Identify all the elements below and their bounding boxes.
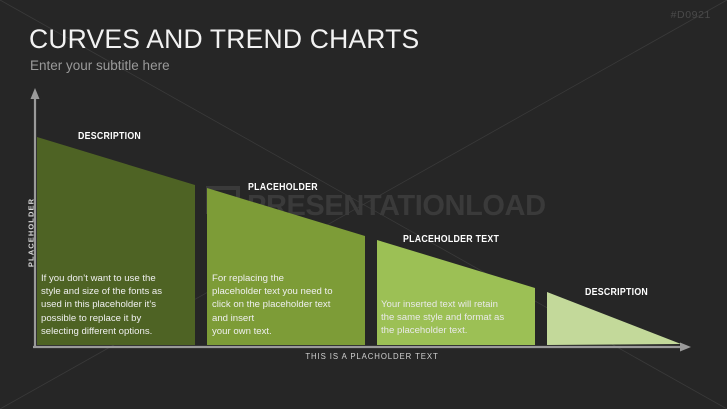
slide-canvas: #D0921 CURVES AND TREND CHARTS Enter you… xyxy=(0,0,727,409)
band-1-heading: DESCRIPTION xyxy=(78,131,141,142)
band-2-heading: PLACEHOLDER xyxy=(248,182,318,193)
chart-svg xyxy=(0,0,727,409)
trend-chart: PLACEHOLDER THIS IS A PLACHOLDER TEXT DE… xyxy=(0,0,727,409)
band-1-body[interactable]: If you don’t want to use the style and s… xyxy=(41,272,191,338)
band-3-heading: PLACEHOLDER TEXT xyxy=(403,234,499,245)
chart-band-4[interactable] xyxy=(547,292,681,345)
axis-y-label: PLACEHOLDER xyxy=(27,193,36,273)
band-2-body[interactable]: For replacing the placeholder text you n… xyxy=(212,272,364,338)
band-4-heading: DESCRIPTION xyxy=(585,287,648,298)
axis-x-label: THIS IS A PLACHOLDER TEXT xyxy=(232,352,512,361)
band-3-body[interactable]: Your inserted text will retain the same … xyxy=(381,298,533,338)
